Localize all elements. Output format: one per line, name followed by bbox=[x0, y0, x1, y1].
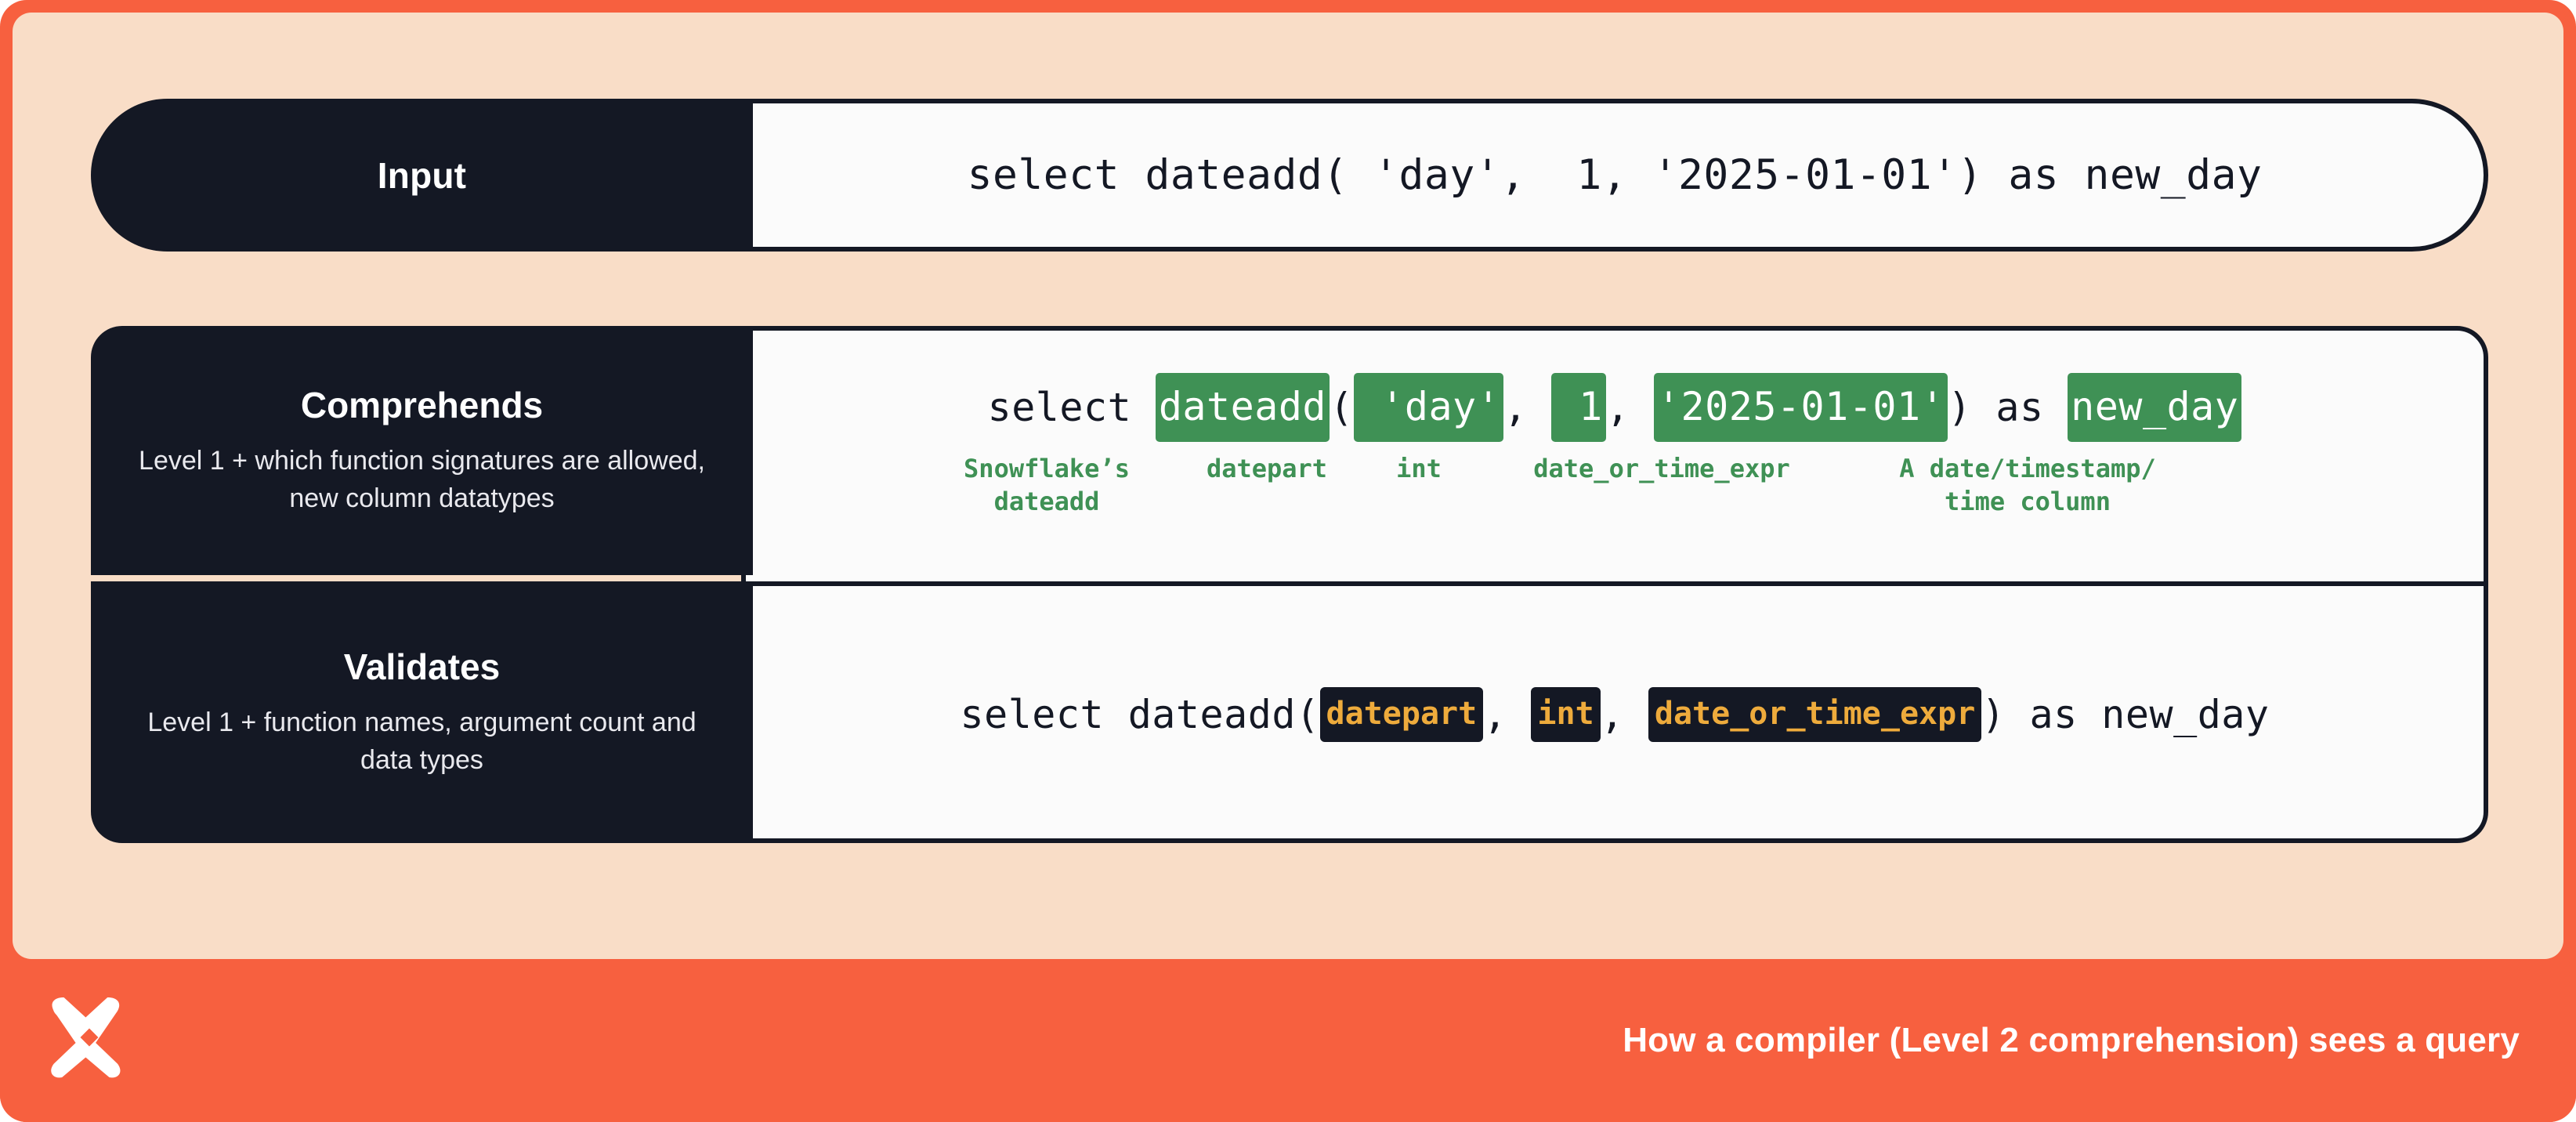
levels-block: Comprehends Level 1 + which function sig… bbox=[91, 326, 2488, 843]
content-stage: Input select dateadd( 'day', 1, '2025-01… bbox=[13, 13, 2563, 959]
input-code-text: select dateadd( 'day', 1, '2025-01-01') … bbox=[968, 151, 2263, 199]
code-token-highlight: int bbox=[1531, 687, 1600, 742]
validates-label-cell: Validates Level 1 + function names, argu… bbox=[91, 581, 753, 843]
code-token-plain: , bbox=[1606, 388, 1654, 427]
levels-label-column: Comprehends Level 1 + which function sig… bbox=[91, 326, 753, 843]
code-token-plain: , bbox=[1503, 388, 1551, 427]
code-token-highlight: '2025-01-01' bbox=[1654, 373, 1948, 442]
code-token-plain: , bbox=[1483, 695, 1531, 734]
code-token-plain: select bbox=[988, 388, 1156, 427]
comprehends-code-cell: select dateadd( 'day', 1, '2025-01-01') … bbox=[746, 331, 2484, 581]
code-token-plain: select dateadd( bbox=[960, 695, 1319, 734]
code-annotation: datepart bbox=[1177, 453, 1357, 486]
input-row: Input select dateadd( 'day', 1, '2025-01… bbox=[91, 99, 2488, 252]
validates-label-description: Level 1 + function names, argument count… bbox=[132, 704, 712, 780]
comprehends-label-title: Comprehends bbox=[301, 384, 543, 426]
validates-code-cell: select dateadd(datepart, int, date_or_ti… bbox=[746, 586, 2484, 843]
footer-bar: How a compiler (Level 2 comprehension) s… bbox=[0, 959, 2576, 1122]
validates-code-line: select dateadd(datepart, int, date_or_ti… bbox=[960, 687, 2269, 742]
comprehends-annotation-row: Snowflake’s dateadddatepartintdate_or_ti… bbox=[741, 453, 2488, 539]
code-token-highlight: new_day bbox=[2068, 373, 2241, 442]
code-token-highlight: 1 bbox=[1551, 373, 1605, 442]
code-token-highlight: 'day' bbox=[1354, 373, 1504, 442]
code-annotation: date_or_time_expr bbox=[1478, 453, 1846, 486]
levels-code-column: select dateadd( 'day', 1, '2025-01-01') … bbox=[741, 326, 2488, 843]
poster: Input select dateadd( 'day', 1, '2025-01… bbox=[0, 0, 2576, 1122]
code-annotation: Snowflake’s dateadd bbox=[929, 453, 1164, 518]
comprehends-code-line: select dateadd( 'day', 1, '2025-01-01') … bbox=[988, 373, 2242, 442]
code-token-plain: ( bbox=[1330, 388, 1354, 427]
footer-caption: How a compiler (Level 2 comprehension) s… bbox=[1623, 1021, 2520, 1060]
code-token-plain: , bbox=[1601, 695, 1648, 734]
code-token-highlight: dateadd bbox=[1156, 373, 1330, 442]
input-label-text: Input bbox=[378, 154, 466, 197]
input-code-panel: select dateadd( 'day', 1, '2025-01-01') … bbox=[741, 99, 2488, 252]
input-row-label: Input bbox=[91, 99, 753, 252]
comprehends-label-description: Level 1 + which function signatures are … bbox=[132, 442, 712, 518]
validates-label-title: Validates bbox=[344, 646, 500, 688]
code-token-highlight: date_or_time_expr bbox=[1648, 687, 1981, 742]
code-annotation: A date/timestamp/ time column bbox=[1847, 453, 2208, 518]
code-token-plain: ) as bbox=[1948, 388, 2068, 427]
x-mark-logo-icon bbox=[44, 992, 135, 1083]
code-token-highlight: datepart bbox=[1320, 687, 1484, 742]
code-token-plain: ) as new_day bbox=[1981, 695, 2269, 734]
code-annotation: int bbox=[1368, 453, 1470, 486]
comprehends-label-cell: Comprehends Level 1 + which function sig… bbox=[91, 326, 753, 575]
